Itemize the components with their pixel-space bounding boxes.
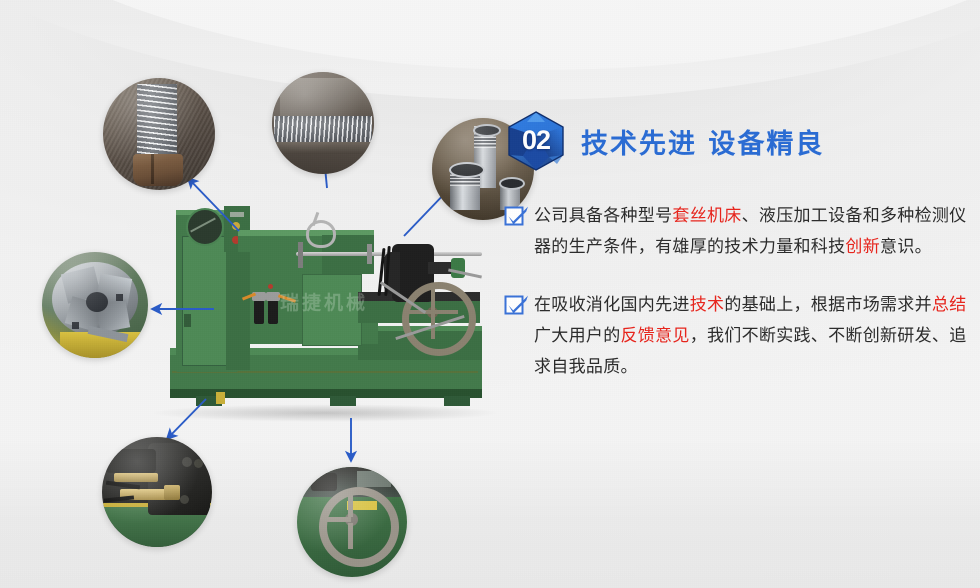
badge-number: 02 <box>505 110 567 172</box>
callout-threaded-rod-end <box>103 78 215 190</box>
checkbox-checked-icon <box>505 206 525 226</box>
highlighted-text: 创新 <box>845 237 880 257</box>
promo-banner: 瑞捷机械 <box>0 0 980 588</box>
highlighted-text: 套丝机床 <box>672 206 741 226</box>
checkbox-checked-icon <box>505 295 525 315</box>
feature-paragraph-2: 在吸收消化国内先进技术的基础上，根据市场需求并总结广大用户的反馈意见，我们不断实… <box>505 290 970 383</box>
body-text: 意识。 <box>880 237 932 257</box>
callout-threaded-rod-side <box>272 72 374 174</box>
body-text: 在吸收消化国内先进 <box>534 295 690 315</box>
feature-paragraph-1: 公司具备各种型号套丝机床、液压加工设备和多种检测仪器的生产条件，有雄厚的技术力量… <box>505 201 970 263</box>
body-text: 广大用户的 <box>534 326 621 346</box>
threading-machine-photo: 瑞捷机械 <box>162 196 492 418</box>
feature-paragraph-1-text: 公司具备各种型号套丝机床、液压加工设备和多种检测仪器的生产条件，有雄厚的技术力量… <box>534 201 970 263</box>
machine-watermark: 瑞捷机械 <box>280 288 368 315</box>
callout-hydraulic-fittings <box>102 437 212 547</box>
body-text: 公司具备各种型号 <box>534 206 672 226</box>
feature-paragraph-2-text: 在吸收消化国内先进技术的基础上，根据市场需求并总结广大用户的反馈意见，我们不断实… <box>534 290 970 383</box>
section-header: 02 技术先进 设备精良 <box>505 108 970 174</box>
background-sweep-inner <box>0 0 980 70</box>
highlighted-text: 反馈意见 <box>621 326 690 346</box>
callout-die-head <box>42 252 148 358</box>
highlighted-text: 技术 <box>690 295 725 315</box>
body-text: 的基础上，根据市场需求并 <box>724 295 932 315</box>
section-number-badge: 02 <box>505 110 567 172</box>
highlighted-text: 总结 <box>932 295 967 315</box>
section-title: 技术先进 设备精良 <box>581 122 824 161</box>
content-panel: 02 技术先进 设备精良 公司具备各种型号套丝机床、液压加工设备和多种检测仪器的… <box>505 108 970 383</box>
callout-handwheel <box>297 467 407 577</box>
